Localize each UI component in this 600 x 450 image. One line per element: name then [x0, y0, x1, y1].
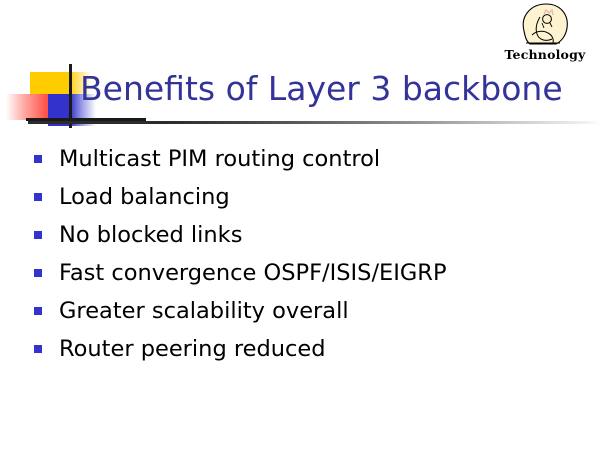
slide-title: Benefits of Layer 3 backbone	[80, 69, 590, 109]
list-item: Multicast PIM routing control	[34, 142, 584, 180]
title-underline-rule	[28, 121, 600, 124]
logo-block: Technology	[497, 1, 593, 67]
list-item: Greater scalability overall	[34, 294, 584, 332]
bullet-text: Router peering reduced	[59, 332, 584, 366]
bullet-text: Greater scalability overall	[59, 294, 584, 328]
bullet-text: No blocked links	[59, 218, 584, 252]
list-item: Fast convergence OSPF/ISIS/EIGRP	[34, 256, 584, 294]
bullet-square-icon	[34, 269, 42, 277]
bullet-square-icon	[34, 231, 42, 239]
list-item: Load balancing	[34, 180, 584, 218]
presentation-slide: Technology Benefits of Layer 3 backbone …	[0, 0, 600, 450]
bullet-square-icon	[34, 155, 42, 163]
bullet-text: Fast convergence OSPF/ISIS/EIGRP	[59, 256, 584, 290]
bullet-square-icon	[34, 193, 42, 201]
list-item: Router peering reduced	[34, 332, 584, 370]
bullet-list: Multicast PIM routing control Load balan…	[34, 142, 584, 370]
list-item: No blocked links	[34, 218, 584, 256]
technology-figure-icon	[510, 1, 580, 49]
bullet-text: Load balancing	[59, 180, 584, 214]
logo-caption: Technology	[497, 48, 593, 61]
technology-figure-logo	[497, 1, 593, 49]
bullet-text: Multicast PIM routing control	[59, 142, 584, 176]
bullet-square-icon	[34, 307, 42, 315]
bullet-square-icon	[34, 345, 42, 353]
